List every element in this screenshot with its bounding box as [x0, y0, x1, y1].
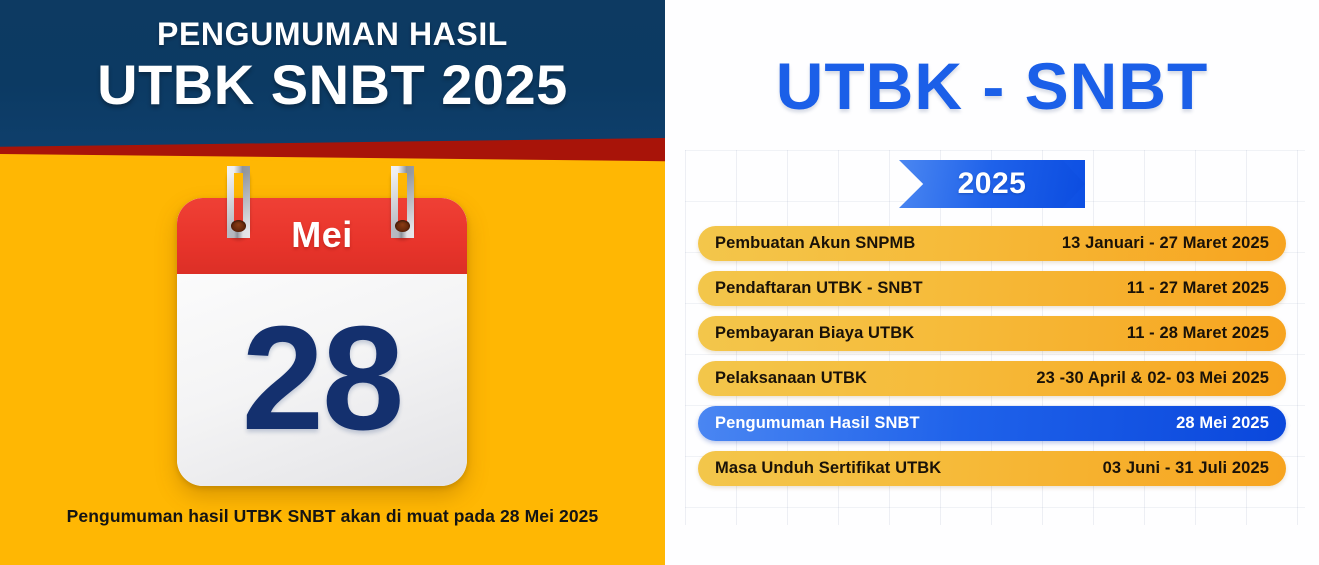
- year-ribbon-banner: 2025: [899, 160, 1085, 208]
- calendar-month-label: Mei: [291, 214, 353, 258]
- ribbon-year-label: 2025: [958, 167, 1027, 201]
- schedule-row-date: 11 - 28 Maret 2025: [1127, 324, 1269, 343]
- right-schedule-panel: UTBK - SNBT 2025 Pembuatan Akun SNPMB13 …: [665, 0, 1319, 565]
- schedule-row[interactable]: Masa Unduh Sertifikat UTBK03 Juni - 31 J…: [698, 451, 1286, 486]
- schedule-row-label: Pelaksanaan UTBK: [715, 369, 867, 388]
- schedule-row-label: Masa Unduh Sertifikat UTBK: [715, 459, 941, 478]
- calendar-ring-right-icon: [391, 166, 414, 238]
- schedule-row-date: 11 - 27 Maret 2025: [1127, 279, 1269, 298]
- schedule-row[interactable]: Pendaftaran UTBK - SNBT11 - 27 Maret 202…: [698, 271, 1286, 306]
- schedule-row-label: Pembayaran Biaya UTBK: [715, 324, 914, 343]
- left-announcement-panel: PENGUMUMAN HASIL UTBK SNBT 2025 Mei 28 P…: [0, 0, 665, 565]
- calendar-ring-hole: [395, 220, 410, 232]
- calendar-header: Mei: [177, 198, 467, 274]
- calendar-body: Mei 28: [177, 198, 467, 486]
- schedule-row-date: 03 Juni - 31 Juli 2025: [1103, 459, 1269, 478]
- schedule-row[interactable]: Pembuatan Akun SNPMB13 Januari - 27 Mare…: [698, 226, 1286, 261]
- poster-root: PENGUMUMAN HASIL UTBK SNBT 2025 Mei 28 P…: [0, 0, 1319, 565]
- schedule-list: Pembuatan Akun SNPMB13 Januari - 27 Mare…: [698, 226, 1286, 496]
- schedule-row-label: Pengumuman Hasil SNBT: [715, 414, 920, 433]
- left-title-block: PENGUMUMAN HASIL UTBK SNBT 2025: [0, 16, 665, 115]
- schedule-row-label: Pendaftaran UTBK - SNBT: [715, 279, 923, 298]
- left-title-line1: PENGUMUMAN HASIL: [0, 16, 665, 54]
- schedule-row[interactable]: Pembayaran Biaya UTBK11 - 28 Maret 2025: [698, 316, 1286, 351]
- schedule-row[interactable]: Pengumuman Hasil SNBT28 Mei 2025: [698, 406, 1286, 441]
- schedule-row[interactable]: Pelaksanaan UTBK23 -30 April & 02- 03 Me…: [698, 361, 1286, 396]
- calendar-ring-hole: [231, 220, 246, 232]
- left-caption-text: Pengumuman hasil UTBK SNBT akan di muat …: [0, 506, 665, 527]
- right-title: UTBK - SNBT: [665, 52, 1319, 121]
- schedule-row-date: 28 Mei 2025: [1176, 414, 1269, 433]
- calendar-icon: Mei 28: [177, 198, 467, 486]
- schedule-row-date: 13 Januari - 27 Maret 2025: [1062, 234, 1269, 253]
- left-title-line2: UTBK SNBT 2025: [0, 56, 665, 115]
- calendar-ring-left-icon: [227, 166, 250, 238]
- schedule-row-date: 23 -30 April & 02- 03 Mei 2025: [1036, 369, 1269, 388]
- calendar-day-number: 28: [177, 272, 467, 486]
- schedule-row-label: Pembuatan Akun SNPMB: [715, 234, 915, 253]
